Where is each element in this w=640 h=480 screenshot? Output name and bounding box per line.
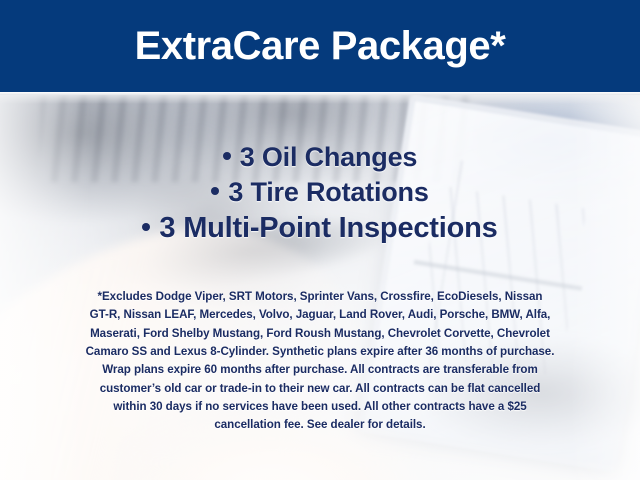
disclaimer-line: Wrap plans expire 60 months after purcha… <box>36 361 604 379</box>
header-band: ExtraCare Package* <box>0 0 640 92</box>
disclaimer-line: Camaro SS and Lexus 8-Cylinder. Syntheti… <box>36 343 604 361</box>
list-item: 3 Multi-Point Inspections <box>0 210 640 248</box>
benefit-label: 3 Oil Changes <box>240 142 417 172</box>
disclaimer-line: cancellation fee. See dealer for details… <box>36 416 604 434</box>
bullet-dot-icon <box>211 187 219 195</box>
page-title: ExtraCare Package* <box>135 26 506 66</box>
bullet-dot-icon <box>142 223 150 231</box>
disclaimer-line: within 30 days if no services have been … <box>36 398 604 416</box>
list-item: 3 Tire Rotations <box>0 175 640 210</box>
bullet-dot-icon <box>223 152 231 160</box>
benefits-list: 3 Oil Changes 3 Tire Rotations 3 Multi-P… <box>0 140 640 248</box>
disclaimer-line: Maserati, Ford Shelby Mustang, Ford Rous… <box>36 325 604 343</box>
benefit-label: 3 Multi-Point Inspections <box>159 212 497 244</box>
list-item: 3 Oil Changes <box>0 140 640 175</box>
extracare-package-ad: ExtraCare Package* 3 Oil Changes 3 Tire … <box>0 0 640 480</box>
benefit-label: 3 Tire Rotations <box>228 177 428 207</box>
disclaimer-line: customer’s old car or trade-in to their … <box>36 380 604 398</box>
disclaimer-line: *Excludes Dodge Viper, SRT Motors, Sprin… <box>36 288 604 306</box>
disclaimer-text: *Excludes Dodge Viper, SRT Motors, Sprin… <box>36 288 604 435</box>
disclaimer-line: GT-R, Nissan LEAF, Mercedes, Volvo, Jagu… <box>36 306 604 324</box>
content-area: 3 Oil Changes 3 Tire Rotations 3 Multi-P… <box>0 92 640 480</box>
